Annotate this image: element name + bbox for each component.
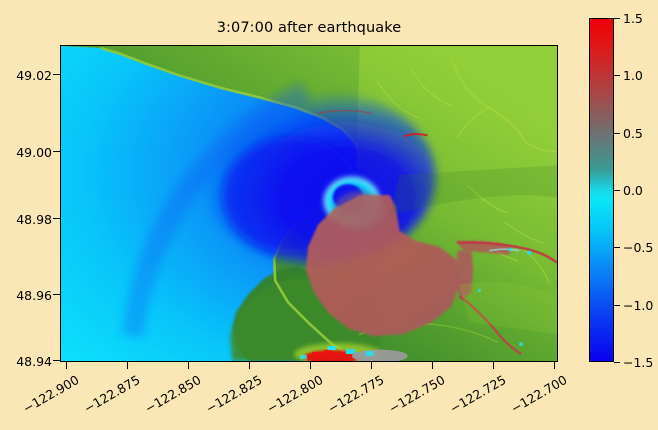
y-tick-label-0: 49.02 (0, 68, 52, 83)
cb-tick-label-1: 1.0 (623, 68, 643, 83)
cb-tick-mark-2 (614, 133, 620, 134)
x-tick-mark-6 (432, 362, 433, 369)
y-tick-mark-1 (53, 151, 60, 152)
x-tick-mark-8 (554, 362, 555, 369)
colorbar[interactable] (589, 18, 614, 362)
tsunami-heatmap (61, 46, 557, 361)
cb-tick-label-4: −0.5 (623, 240, 653, 255)
cb-tick-label-2: 0.5 (623, 126, 643, 141)
y-tick-mark-4 (53, 360, 60, 361)
y-tick-mark-0 (53, 74, 60, 75)
y-tick-label-1: 49.00 (0, 145, 52, 160)
cb-tick-label-6: −1.5 (623, 355, 653, 370)
x-tick-mark-0 (66, 362, 67, 369)
figure-canvas: 3:07:00 after earthquake 49.02 49.00 48.… (0, 0, 658, 419)
cb-tick-mark-0 (614, 18, 620, 19)
x-tick-mark-2 (188, 362, 189, 369)
cb-tick-mark-6 (614, 362, 620, 363)
page-title: 3:07:00 after earthquake (60, 20, 558, 36)
y-tick-label-2: 48.98 (0, 212, 52, 227)
x-tick-mark-7 (493, 362, 494, 369)
cb-tick-label-3: 0.0 (623, 183, 643, 198)
x-tick-mark-4 (310, 362, 311, 369)
cb-tick-label-0: 1.5 (623, 11, 643, 26)
x-tick-mark-3 (249, 362, 250, 369)
cb-tick-mark-3 (614, 190, 620, 191)
cb-tick-label-5: −1.0 (623, 298, 653, 313)
x-tick-mark-5 (371, 362, 372, 369)
y-tick-label-3: 48.96 (0, 288, 52, 303)
inundation-edge-blend (334, 191, 386, 231)
y-tick-label-4: 48.94 (0, 354, 52, 369)
map-plot-area[interactable] (60, 45, 558, 362)
y-tick-mark-3 (53, 294, 60, 295)
cb-tick-mark-5 (614, 305, 620, 306)
x-tick-mark-1 (127, 362, 128, 369)
y-tick-mark-2 (53, 218, 60, 219)
cb-tick-mark-1 (614, 75, 620, 76)
cb-tick-mark-4 (614, 247, 620, 248)
